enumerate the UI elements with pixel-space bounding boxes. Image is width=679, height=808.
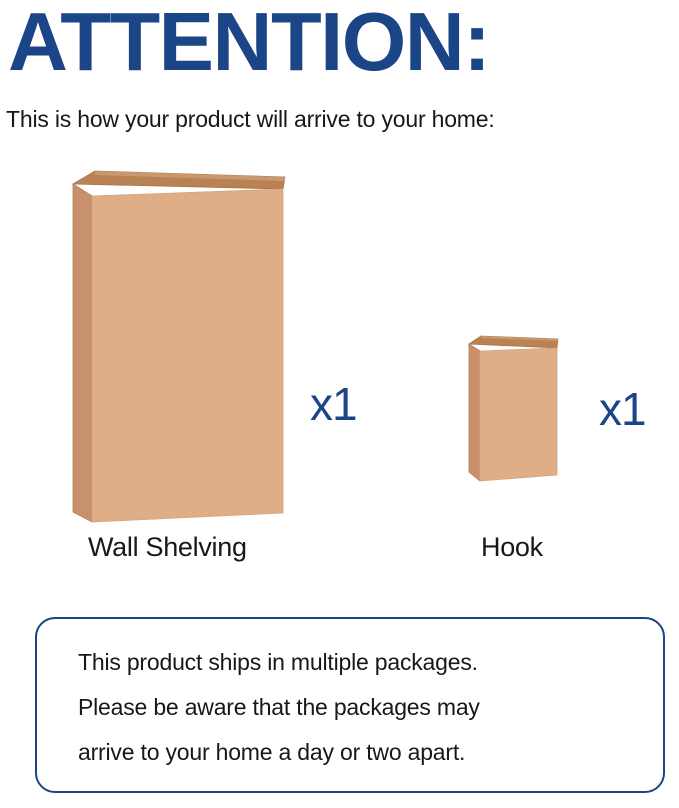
shipping-notice-text: This product ships in multiple packages.… (78, 640, 638, 775)
cardboard-box-icon-wall-shelving (73, 171, 285, 522)
box-top-crease (95, 171, 285, 181)
page-title: ATTENTION: (8, 0, 676, 90)
box-side-face (73, 184, 92, 522)
quantity-hook: x1 (599, 386, 646, 432)
shipping-notice-line-1: This product ships in multiple packages. (78, 640, 638, 685)
subtitle-text: This is how your product will arrive to … (6, 104, 495, 134)
box-front-face (480, 348, 557, 481)
box-top-crease (481, 336, 558, 341)
caption-wall-shelving: Wall Shelving (88, 531, 247, 563)
shipping-notice-line-3: arrive to your home a day or two apart. (78, 730, 638, 775)
quantity-wall-shelving: x1 (310, 381, 357, 427)
box-top-face (469, 336, 558, 348)
caption-hook: Hook (481, 531, 543, 563)
attention-shipping-notice: ATTENTION: This is how your product will… (0, 0, 679, 808)
cardboard-box-icon-hook (469, 336, 558, 481)
box-front-face (92, 189, 283, 522)
box-top-face (73, 171, 285, 189)
box-side-face (469, 344, 480, 481)
shipping-notice-callout: This product ships in multiple packages.… (35, 617, 665, 793)
shipping-notice-line-2: Please be aware that the packages may (78, 685, 638, 730)
